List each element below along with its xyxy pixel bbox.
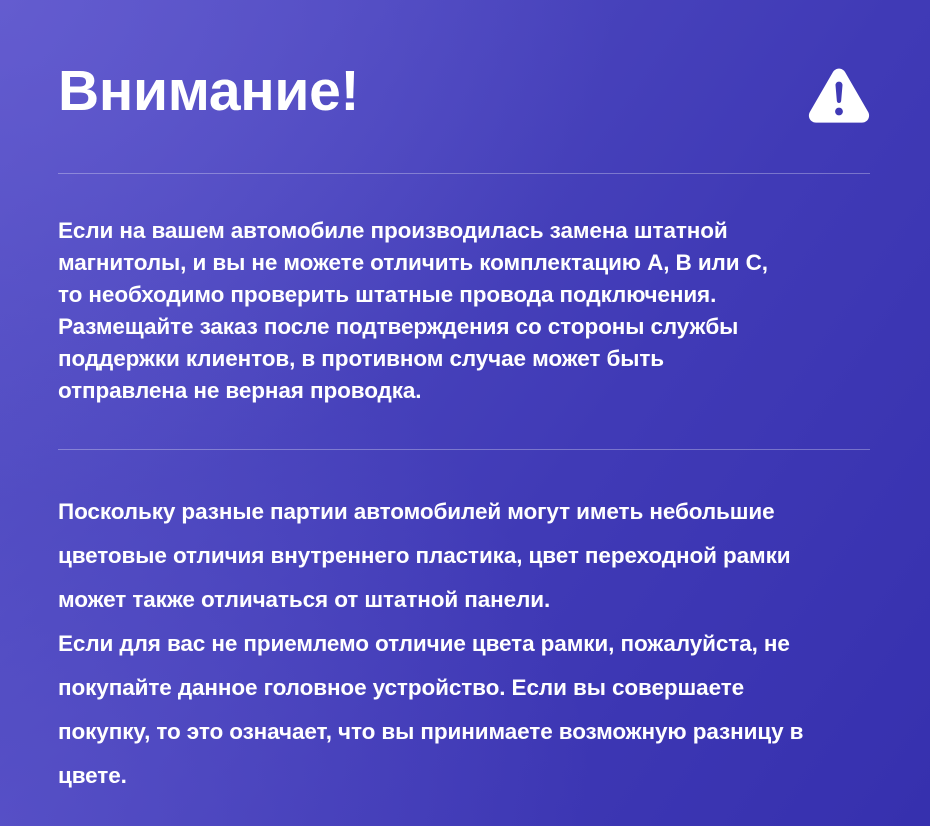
notice-section-color: Поскольку разные партии автомобилей могу… <box>58 490 878 798</box>
warning-triangle-icon <box>808 66 870 124</box>
notice-line: Если для вас не приемлемо отличие цвета … <box>58 622 878 666</box>
notice-line: Если на вашем автомобиле производилась з… <box>58 215 878 247</box>
divider-middle <box>58 449 870 450</box>
notice-line: может также отличаться от штатной панели… <box>58 578 878 622</box>
page-header: Внимание! <box>58 58 872 136</box>
warning-notice-page: Внимание! Если на вашем автомобиле произ… <box>0 0 930 826</box>
notice-line: то необходимо проверить штатные провода … <box>58 279 878 311</box>
page-title: Внимание! <box>58 58 359 124</box>
notice-line: Поскольку разные партии автомобилей могу… <box>58 490 878 534</box>
notice-line: Размещайте заказ после подтверждения со … <box>58 311 878 343</box>
notice-line: магнитолы, и вы не можете отличить компл… <box>58 247 878 279</box>
notice-line: отправлена не верная проводка. <box>58 375 878 407</box>
notice-line: покупайте данное головное устройство. Ес… <box>58 666 878 710</box>
notice-line: цвете. <box>58 754 878 798</box>
notice-section-wiring: Если на вашем автомобиле производилась з… <box>58 215 878 407</box>
notice-line: покупку, то это означает, что вы принима… <box>58 710 878 754</box>
notice-line: цветовые отличия внутреннего пластика, ц… <box>58 534 878 578</box>
divider-top <box>58 173 870 174</box>
notice-line: поддержки клиентов, в противном случае м… <box>58 343 878 375</box>
